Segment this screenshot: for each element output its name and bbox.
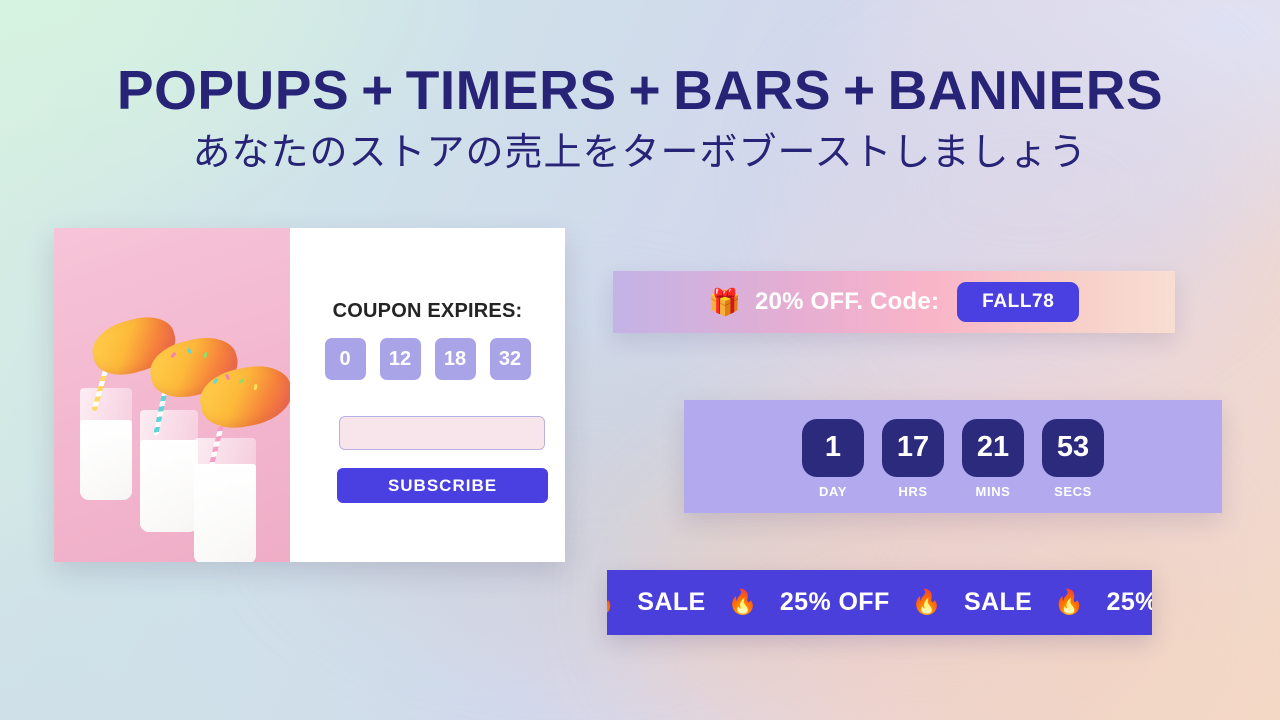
countdown-timer-widget: 1 DAY 17 HRS 21 MINS 53 SECS xyxy=(684,400,1222,513)
glass-highlight xyxy=(194,438,256,562)
glass-highlight xyxy=(140,410,198,532)
email-field[interactable] xyxy=(339,416,545,450)
countdown-value-day: 1 xyxy=(802,419,864,477)
coupon-bar-widget: 🎁 20% OFF. Code: FALL78 xyxy=(613,271,1175,333)
countdown-label-day: DAY xyxy=(819,484,847,499)
countdown-value-secs: 53 xyxy=(1042,419,1104,477)
sale-banner-widget: 🔥 SALE 🔥 25% OFF 🔥 SALE 🔥 25% 🔥 xyxy=(607,570,1152,635)
countdown-digit-secs: 32 xyxy=(490,338,531,380)
milk-bottle-front xyxy=(194,438,256,562)
subscribe-button[interactable]: SUBSCRIBE xyxy=(337,468,548,503)
countdown-value-mins: 21 xyxy=(962,419,1024,477)
countdown-label-mins: MINS xyxy=(976,484,1011,499)
sale-banner-item: 25% xyxy=(1107,588,1152,617)
sale-banner-item: 25% OFF xyxy=(780,588,890,617)
sale-marquee-track: 🔥 SALE 🔥 25% OFF 🔥 SALE 🔥 25% 🔥 xyxy=(607,588,1152,617)
countdown-digit-mins: 18 xyxy=(435,338,476,380)
countdown-unit-mins: 21 MINS xyxy=(962,419,1024,499)
flame-icon: 🔥 xyxy=(1054,588,1084,617)
glass-highlight xyxy=(80,388,132,500)
countdown-unit-hrs: 17 HRS xyxy=(882,419,944,499)
flame-icon: 🔥 xyxy=(728,588,758,617)
headline-part-bars: BARS xyxy=(673,59,831,121)
sale-banner-item: SALE xyxy=(964,588,1032,617)
page-subtitle: あなたのストアの売上をターボブーストしましょう xyxy=(0,132,1280,176)
coupon-code-button[interactable]: FALL78 xyxy=(957,282,1079,322)
countdown-unit-day: 1 DAY xyxy=(802,419,864,499)
countdown-digit-days: 0 xyxy=(325,338,366,380)
coupon-expires-label: COUPON EXPIRES: xyxy=(290,300,565,323)
countdown-label-secs: SECS xyxy=(1054,484,1092,499)
countdown-unit-secs: 53 SECS xyxy=(1042,419,1104,499)
coupon-bar-text: 20% OFF. Code: xyxy=(755,288,939,316)
popup-form-panel: COUPON EXPIRES: 0 12 18 32 SUBSCRIBE xyxy=(290,228,565,562)
sale-banner-item: SALE xyxy=(637,588,705,617)
countdown-value-hrs: 17 xyxy=(882,419,944,477)
headline-part-timers: TIMERS xyxy=(406,59,617,121)
headline-block: POPUPS+TIMERS+BARS+BANNERS あなたのストアの売上をター… xyxy=(0,62,1280,175)
flame-icon: 🔥 xyxy=(607,588,615,617)
headline-plus-2: + xyxy=(617,62,674,120)
headline-plus-1: + xyxy=(349,62,406,120)
page-title: POPUPS+TIMERS+BARS+BANNERS xyxy=(0,62,1280,120)
headline-plus-3: + xyxy=(831,62,888,120)
flame-icon: 🔥 xyxy=(912,588,942,617)
coupon-countdown-digits: 0 12 18 32 xyxy=(290,338,565,380)
countdown-label-hrs: HRS xyxy=(898,484,927,499)
popup-photo xyxy=(54,228,290,562)
popup-widget: COUPON EXPIRES: 0 12 18 32 SUBSCRIBE xyxy=(54,228,565,562)
headline-part-popups: POPUPS xyxy=(117,59,349,121)
countdown-digit-hours: 12 xyxy=(380,338,421,380)
milk-bottle-middle xyxy=(140,410,198,532)
milk-bottle-back xyxy=(80,388,132,500)
headline-part-banners: BANNERS xyxy=(888,59,1163,121)
gift-icon: 🎁 xyxy=(709,289,741,315)
